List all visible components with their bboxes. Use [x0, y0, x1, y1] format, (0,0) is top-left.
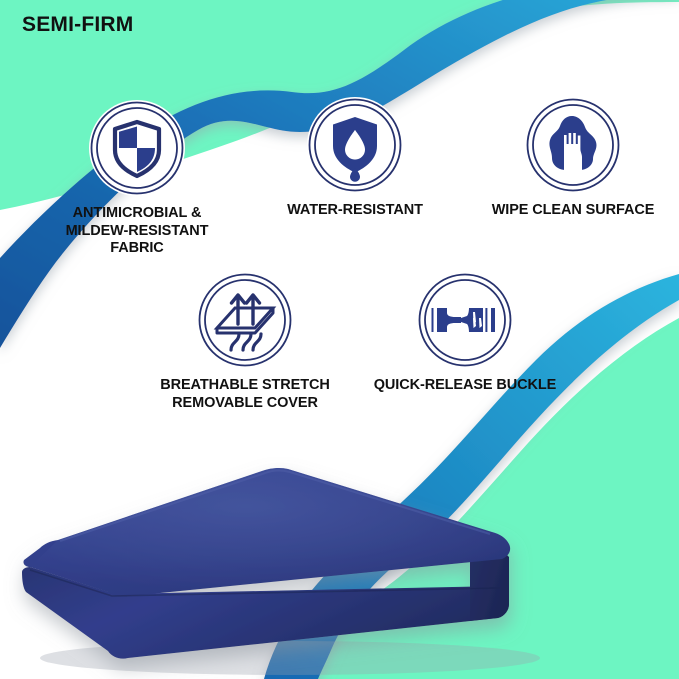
hand-wipe-badge [525, 97, 621, 193]
feature-antimicrobial: ANTIMICROBIAL & MILDEW-RESISTANT FABRIC [37, 100, 237, 258]
shield-water-drop-badge [307, 97, 403, 193]
feature-buckle: QUICK-RELEASE BUCKLE [365, 272, 565, 395]
shield-checkered-badge [89, 100, 185, 196]
hand-wipe-icon [525, 97, 621, 193]
feature-label-water-resistant: WATER-RESISTANT [287, 202, 423, 220]
feature-wipe-clean: WIPE CLEAN SURFACE [473, 97, 673, 220]
shield-water-drop-icon [307, 97, 403, 193]
feature-water-resistant: WATER-RESISTANT [255, 97, 455, 220]
page-title: SEMI-FIRM [22, 13, 133, 37]
product-image [0, 420, 679, 679]
feature-label-buckle: QUICK-RELEASE BUCKLE [374, 377, 556, 395]
breathable-airflow-badge [197, 272, 293, 368]
quick-release-buckle-badge [417, 272, 513, 368]
product-infographic: SEMI-FIRM ANTIMICROBIAL & MILDEW-RESISTA… [0, 0, 679, 679]
feature-label-wipe-clean: WIPE CLEAN SURFACE [492, 202, 655, 220]
shield-checkered-icon [89, 100, 185, 196]
feature-breathable: BREATHABLE STRETCH REMOVABLE COVER [145, 272, 345, 412]
feature-label-antimicrobial: ANTIMICROBIAL & MILDEW-RESISTANT FABRIC [66, 205, 209, 258]
quick-release-buckle-icon [417, 272, 513, 368]
breathable-airflow-icon [197, 272, 293, 368]
feature-label-breathable: BREATHABLE STRETCH REMOVABLE COVER [160, 377, 330, 412]
